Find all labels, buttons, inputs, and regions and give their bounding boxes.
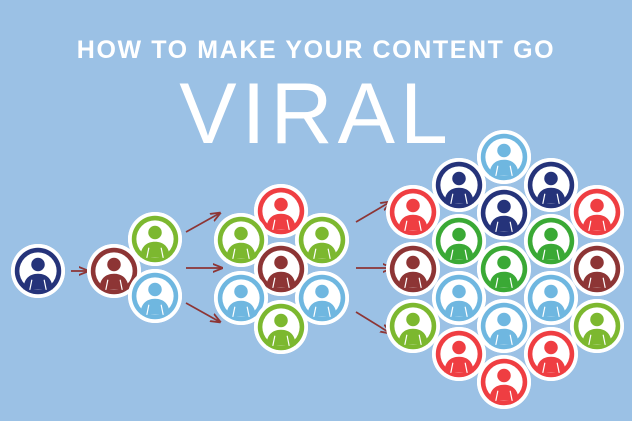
person-icon-g5-n11 (570, 242, 624, 296)
person-icon-g5-n06 (570, 185, 624, 239)
person-icon-g4-n7 (254, 300, 308, 354)
person-icon-g5-n18 (524, 327, 578, 381)
person-icon-g3-n2 (128, 269, 182, 323)
page-title-viral: VIRAL (0, 66, 632, 162)
flow-arrow-a7 (356, 202, 390, 222)
person-icon-g5-n19 (477, 355, 531, 409)
viral-infographic: HOW TO MAKE YOUR CONTENT GO VIRAL (0, 0, 632, 421)
page-title-line1: HOW TO MAKE YOUR CONTENT GO (0, 36, 632, 64)
person-icon-g5-n16 (570, 299, 624, 353)
person-icon-g1-n1 (11, 244, 65, 298)
person-icon-g3-n1 (128, 212, 182, 266)
flow-arrow-a9 (356, 312, 390, 333)
